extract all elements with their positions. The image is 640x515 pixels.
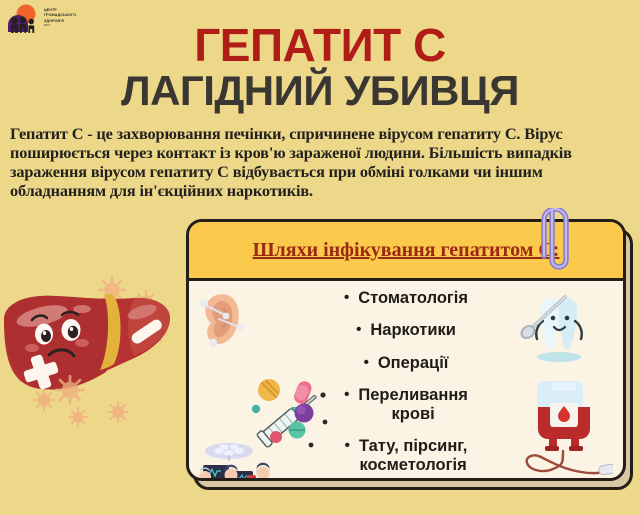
bullet-icon: •	[344, 289, 349, 307]
page-title: ГЕПАТИТ С	[0, 22, 640, 68]
list-item: • Операції	[281, 354, 531, 372]
sad-liver-character-with-viruses-icon	[0, 272, 179, 437]
page-subtitle: ЛАГІДНИЙ УБИВЦЯ	[0, 70, 640, 112]
pierced-ear-icon	[195, 289, 251, 351]
paperclip-icon	[540, 208, 574, 282]
transmission-routes-list: • Стоматологія • Наркотики • Операції • …	[281, 289, 531, 481]
card-body: • Стоматологія • Наркотики • Операції • …	[189, 281, 623, 481]
blood-transfusion-bag-icon	[519, 377, 613, 481]
bullet-icon: •	[345, 437, 350, 455]
bullet-icon: •	[364, 354, 369, 372]
list-item: • Наркотики	[281, 321, 531, 339]
bullet-icon: •	[356, 321, 361, 339]
route-label: Операції	[378, 354, 449, 372]
card-header-title: Шляхи інфікування гепатитом С:	[253, 239, 560, 261]
bullet-icon: •	[344, 386, 349, 404]
operating-room-surgery-icon	[191, 441, 295, 481]
logo-line-2: ГРОМАДСЬКОГО	[44, 13, 76, 18]
route-label: Тату, пірсинг, косметологія	[359, 437, 467, 474]
list-item: • Тату, пірсинг, косметологія	[281, 437, 531, 474]
route-label: Наркотики	[370, 321, 456, 339]
route-label: Переливання крові	[358, 386, 468, 423]
list-item: • Стоматологія	[281, 289, 531, 307]
route-label: Стоматологія	[358, 289, 468, 307]
intro-paragraph: Гепатит С - це захворювання печінки, спр…	[10, 124, 632, 200]
list-item: • Переливання крові	[281, 386, 531, 423]
smiling-tooth-with-dental-mirror-icon	[519, 291, 595, 365]
